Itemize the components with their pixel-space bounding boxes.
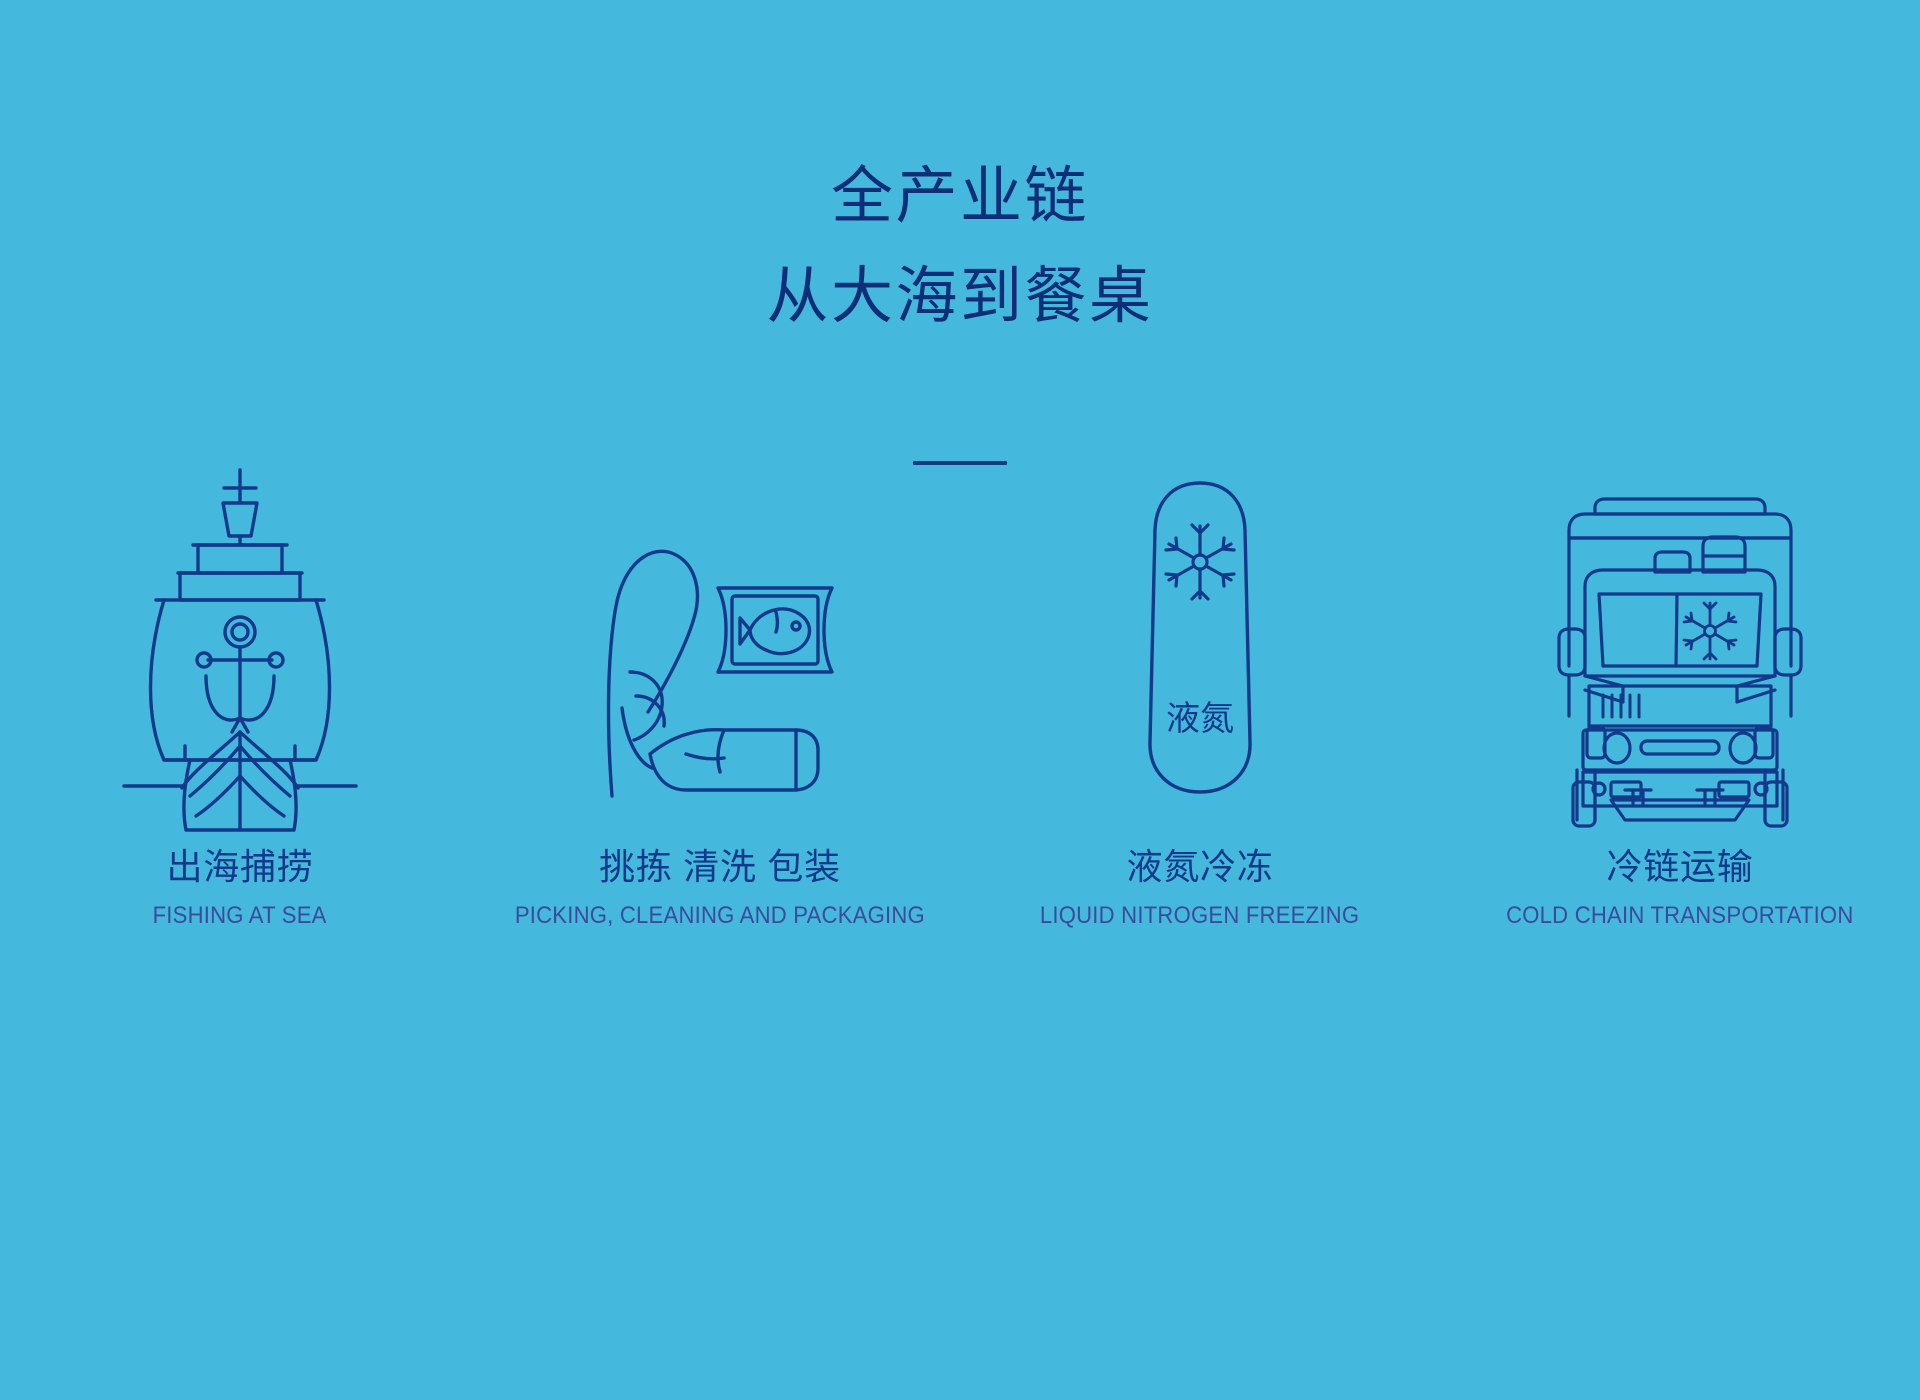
step-label-cn: 出海捕捞 <box>145 844 334 889</box>
step-labels: 挑拣 清洗 包装 PICKING, CLEANING AND PACKAGING <box>497 844 943 931</box>
step-liquid-nitrogen-freezing[interactable]: 液氮 液氮冷冻 LIQUID NITROGEN FREEZING <box>960 440 1440 931</box>
step-label-cn: 挑拣 清洗 包装 <box>497 844 943 889</box>
hands-holding-packaged-fish-icon <box>590 440 850 800</box>
page-title-line-2: 从大海到餐桌 <box>0 266 1920 328</box>
page-title-line-1: 全产业链 <box>0 166 1920 228</box>
refrigerated-truck-icon <box>1555 440 1805 800</box>
snowflake-icon <box>1166 525 1234 599</box>
step-picking-cleaning-packaging[interactable]: 挑拣 清洗 包装 PICKING, CLEANING AND PACKAGING <box>480 440 960 931</box>
liquid-nitrogen-tank-icon: 液氮 <box>1140 440 1260 800</box>
step-labels: 出海捕捞 FISHING AT SEA <box>145 844 334 931</box>
step-label-en: LIQUID NITROGEN FREEZING <box>1040 901 1359 931</box>
step-label-cn: 液氮冷冻 <box>1026 844 1373 889</box>
step-labels: 液氮冷冻 LIQUID NITROGEN FREEZING <box>1026 844 1373 931</box>
step-label-en: FISHING AT SEA <box>153 901 327 931</box>
step-label-cn: 冷链运输 <box>1491 844 1869 889</box>
step-label-en: COLD CHAIN TRANSPORTATION <box>1506 901 1853 931</box>
process-steps: 出海捕捞 FISHING AT SEA <box>0 440 1920 931</box>
step-labels: 冷链运输 COLD CHAIN TRANSPORTATION <box>1491 844 1869 931</box>
snowflake-icon <box>1684 603 1736 659</box>
step-label-en: PICKING, CLEANING AND PACKAGING <box>515 901 925 931</box>
tank-text: 液氮 <box>1166 700 1234 738</box>
step-fishing-at-sea[interactable]: 出海捕捞 FISHING AT SEA <box>0 440 480 931</box>
step-cold-chain-transportation[interactable]: 冷链运输 COLD CHAIN TRANSPORTATION <box>1440 440 1920 931</box>
fishing-boat-icon <box>120 440 360 800</box>
